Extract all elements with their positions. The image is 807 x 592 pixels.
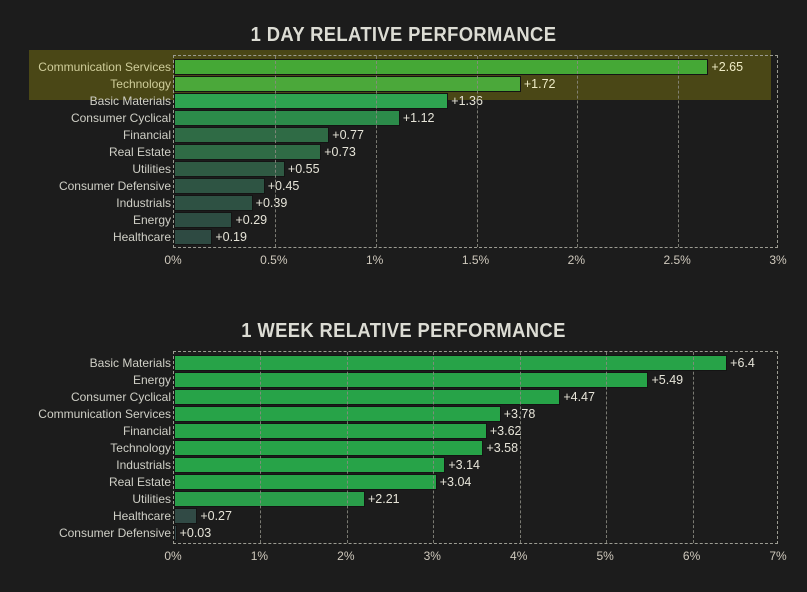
bar[interactable] (174, 127, 329, 143)
bar-rows: Communication Services+2.65Technology+1.… (174, 56, 777, 247)
bar[interactable] (174, 110, 400, 126)
category-label: Financial (123, 129, 171, 141)
axis-tick-label: 2% (337, 546, 354, 566)
axis-tick-label: 3% (424, 546, 441, 566)
axis-tick-label: 7% (769, 546, 786, 566)
bar-value-label: +3.78 (504, 408, 536, 421)
category-label: Consumer Defensive (59, 527, 171, 539)
axis-tick-label: 3% (769, 250, 786, 270)
axis-tick-label: 5% (596, 546, 613, 566)
category-label: Consumer Cyclical (71, 391, 171, 403)
bar-row[interactable]: Utilities+2.21 (174, 491, 777, 507)
bar-row[interactable]: Consumer Cyclical+4.47 (174, 389, 777, 405)
bar-value-label: +0.19 (215, 231, 247, 244)
category-label: Basic Materials (90, 95, 171, 107)
bar-row[interactable]: Financial+0.77 (174, 127, 777, 143)
bar[interactable] (174, 212, 232, 228)
plot-area: Communication Services+2.65Technology+1.… (173, 55, 778, 248)
bar[interactable] (174, 144, 321, 160)
bar-value-label: +0.29 (235, 214, 267, 227)
bar-row[interactable]: Financial+3.62 (174, 423, 777, 439)
category-label: Consumer Cyclical (71, 112, 171, 124)
bar[interactable] (174, 178, 265, 194)
axis-tick-label: 1.5% (462, 250, 489, 270)
bar-row[interactable]: Basic Materials+6.4 (174, 355, 777, 371)
bar-row[interactable]: Communication Services+3.78 (174, 406, 777, 422)
bar-value-label: +0.55 (288, 163, 320, 176)
bar[interactable] (174, 229, 212, 245)
bar-value-label: +0.45 (268, 180, 300, 193)
bar-row[interactable]: Communication Services+2.65 (174, 59, 777, 75)
bar[interactable] (174, 76, 521, 92)
bar-value-label: +3.62 (490, 425, 522, 438)
bar-value-label: +3.14 (448, 459, 480, 472)
category-label: Healthcare (113, 510, 171, 522)
bar-value-label: +6.4 (730, 357, 755, 370)
bar[interactable] (174, 355, 727, 371)
bar-value-label: +1.72 (524, 78, 556, 91)
category-label: Financial (123, 425, 171, 437)
bar-value-label: +1.36 (451, 95, 483, 108)
axis-tick-label: 2% (568, 250, 585, 270)
axis-tick-label: 0% (164, 546, 181, 566)
chart-2-x-axis: 0%1%2%3%4%5%6%7% (173, 546, 778, 566)
chart-1-x-axis: 0%0.5%1%1.5%2%2.5%3% (173, 250, 778, 270)
bar-row[interactable]: Energy+0.29 (174, 212, 777, 228)
bar-value-label: +3.58 (486, 442, 518, 455)
bar-value-label: +4.47 (563, 391, 595, 404)
category-label: Energy (133, 214, 171, 226)
bar-value-label: +0.73 (324, 146, 356, 159)
category-label: Industrials (116, 459, 171, 471)
category-label: Consumer Defensive (59, 180, 171, 192)
bar-row[interactable]: Healthcare+0.27 (174, 508, 777, 524)
bar[interactable] (174, 195, 253, 211)
bar[interactable] (174, 491, 365, 507)
bar[interactable] (174, 457, 445, 473)
bar-row[interactable]: Technology+1.72 (174, 76, 777, 92)
bar[interactable] (174, 389, 560, 405)
bar-value-label: +3.04 (440, 476, 472, 489)
bar[interactable] (174, 508, 197, 524)
axis-tick-label: 1% (366, 250, 383, 270)
chart-1-title: 1 DAY RELATIVE PERFORMANCE (32, 0, 774, 48)
bar-value-label: +0.27 (200, 510, 232, 523)
bar-row[interactable]: Technology+3.58 (174, 440, 777, 456)
axis-tick-label: 0.5% (260, 250, 287, 270)
chart-1-plot-wrapper: Communication Services+2.65Technology+1.… (0, 55, 807, 262)
category-label: Basic Materials (90, 357, 171, 369)
bar[interactable] (174, 406, 501, 422)
category-label: Communication Services (38, 61, 171, 73)
axis-tick-label: 1% (251, 546, 268, 566)
category-label: Real Estate (109, 146, 171, 158)
bar[interactable] (174, 161, 285, 177)
axis-tick-label: 0% (164, 250, 181, 270)
bar-row[interactable]: Energy+5.49 (174, 372, 777, 388)
bar[interactable] (174, 372, 648, 388)
category-label: Industrials (116, 197, 171, 209)
category-label: Energy (133, 374, 171, 386)
category-label: Technology (110, 78, 171, 90)
bar[interactable] (174, 525, 177, 541)
category-label: Real Estate (109, 476, 171, 488)
chart-1-day-relative-performance: 1 DAY RELATIVE PERFORMANCE Communication… (0, 0, 807, 296)
chart-2-plot-wrapper: Basic Materials+6.4Energy+5.49Consumer C… (0, 351, 807, 558)
bar[interactable] (174, 59, 708, 75)
axis-tick-label: 2.5% (663, 250, 690, 270)
bar-row[interactable]: Industrials+0.39 (174, 195, 777, 211)
bar-row[interactable]: Industrials+3.14 (174, 457, 777, 473)
category-label: Technology (110, 442, 171, 454)
bar-row[interactable]: Consumer Defensive+0.03 (174, 525, 777, 541)
bar-value-label: +0.77 (332, 129, 364, 142)
bar-row[interactable]: Basic Materials+1.36 (174, 93, 777, 109)
bar[interactable] (174, 474, 437, 490)
axis-tick-label: 4% (510, 546, 527, 566)
bar[interactable] (174, 440, 483, 456)
category-label: Utilities (132, 163, 171, 175)
bar-value-label: +5.49 (651, 374, 683, 387)
category-label: Healthcare (113, 231, 171, 243)
bar-value-label: +2.65 (711, 61, 743, 74)
bar[interactable] (174, 423, 487, 439)
bar-row[interactable]: Consumer Defensive+0.45 (174, 178, 777, 194)
axis-tick-label: 6% (683, 546, 700, 566)
bar-rows: Basic Materials+6.4Energy+5.49Consumer C… (174, 352, 777, 543)
category-label: Utilities (132, 493, 171, 505)
bar-value-label: +0.39 (256, 197, 288, 210)
bar[interactable] (174, 93, 448, 109)
chart-2-1-week-relative-performance: 1 WEEK RELATIVE PERFORMANCE Basic Materi… (0, 296, 807, 592)
bar-row[interactable]: Healthcare+0.19 (174, 229, 777, 245)
chart-2-title: 1 WEEK RELATIVE PERFORMANCE (32, 296, 774, 344)
bar-row[interactable]: Consumer Cyclical+1.12 (174, 110, 777, 126)
bar-value-label: +0.03 (180, 527, 212, 540)
bar-value-label: +2.21 (368, 493, 400, 506)
bar-row[interactable]: Real Estate+0.73 (174, 144, 777, 160)
bar-row[interactable]: Real Estate+3.04 (174, 474, 777, 490)
bar-value-label: +1.12 (403, 112, 435, 125)
bar-row[interactable]: Utilities+0.55 (174, 161, 777, 177)
plot-area: Basic Materials+6.4Energy+5.49Consumer C… (173, 351, 778, 544)
category-label: Communication Services (38, 408, 171, 420)
